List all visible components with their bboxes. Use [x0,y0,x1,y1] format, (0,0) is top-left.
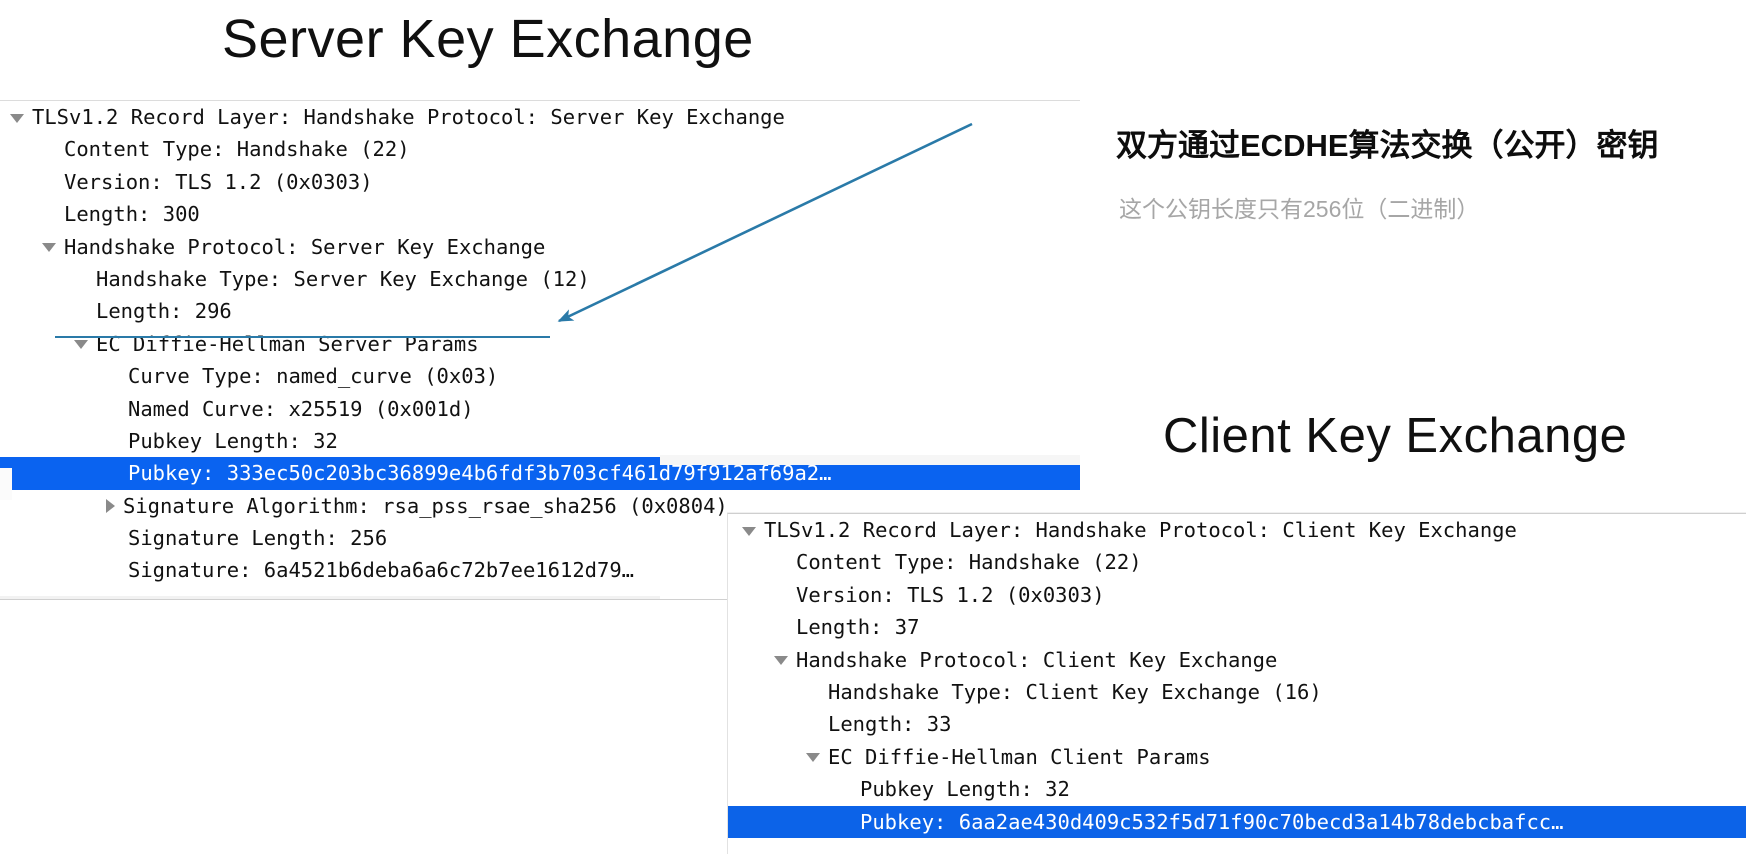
server-key-exchange-title: Server Key Exchange [222,8,754,70]
packet-tree-row[interactable]: Content Type: Handshake (22) [728,546,1746,578]
packet-tree-row-label: Length: 37 [796,611,919,643]
packet-tree-row[interactable]: TLSv1.2 Record Layer: Handshake Protocol… [0,101,1080,133]
panel-edge-artifact-left [0,468,12,500]
packet-tree-row[interactable]: Handshake Protocol: Client Key Exchange [728,644,1746,676]
chevron-right-icon[interactable] [106,499,115,513]
chevron-down-icon[interactable] [42,243,56,252]
chevron-down-icon[interactable] [774,656,788,665]
packet-tree-row-label: Pubkey Length: 32 [860,773,1070,805]
packet-tree-row[interactable]: Content Type: Handshake (22) [0,133,1080,165]
packet-tree-row[interactable]: TLSv1.2 Record Layer: Handshake Protocol… [728,514,1746,546]
packet-tree-row-label: Curve Type: named_curve (0x03) [128,360,498,392]
packet-tree-row[interactable]: Version: TLS 1.2 (0x0303) [0,166,1080,198]
client-key-exchange-packet-tree[interactable]: TLSv1.2 Record Layer: Handshake Protocol… [727,513,1746,854]
packet-tree-row[interactable]: Length: 37 [728,611,1746,643]
packet-tree-row-label: TLSv1.2 Record Layer: Handshake Protocol… [764,514,1517,546]
chevron-down-icon[interactable] [742,527,756,536]
client-key-exchange-title: Client Key Exchange [1163,408,1627,464]
packet-tree-row[interactable]: Length: 296 [0,295,1080,327]
packet-tree-row-label: Version: TLS 1.2 (0x0303) [796,579,1105,611]
packet-tree-row-label: Handshake Type: Server Key Exchange (12) [96,263,590,295]
packet-tree-row[interactable]: Handshake Type: Server Key Exchange (12) [0,263,1080,295]
chevron-down-icon[interactable] [74,340,88,349]
packet-tree-row-label: Version: TLS 1.2 (0x0303) [64,166,373,198]
packet-tree-row-label: Handshake Protocol: Client Key Exchange [796,644,1277,676]
packet-tree-row-label: Signature Algorithm: rsa_pss_rsae_sha256… [123,490,728,522]
packet-tree-row-selected[interactable]: Pubkey: 6aa2ae430d409c532f5d71f90c70becd… [728,806,1746,838]
packet-tree-row-label: Named Curve: x25519 (0x001d) [128,393,474,425]
packet-tree-row[interactable]: Named Curve: x25519 (0x001d) [0,393,1080,425]
annotation-heading: 双方通过ECDHE算法交换（公开）密钥 [1116,120,1659,165]
packet-tree-row-label: Content Type: Handshake (22) [64,133,410,165]
packet-tree-row-label: Handshake Type: Client Key Exchange (16) [828,676,1322,708]
chevron-down-icon[interactable] [10,114,24,123]
packet-tree-row-label: Signature Length: 256 [128,522,387,554]
packet-tree-row[interactable]: Pubkey Length: 32 [0,425,1080,457]
packet-tree-row[interactable]: Version: TLS 1.2 (0x0303) [728,579,1746,611]
annotation-subtitle: 这个公钥长度只有256位（二进制） [1119,190,1479,224]
packet-tree-row-label: EC Diffie-Hellman Server Params [96,328,479,360]
packet-tree-row[interactable]: EC Diffie-Hellman Client Params [728,741,1746,773]
packet-tree-row-label: Length: 296 [96,295,232,327]
server-params-underline [55,336,550,338]
packet-tree-row[interactable]: EC Diffie-Hellman Server Params [0,328,1080,360]
panel-edge-artifact-bottom [0,596,660,599]
packet-tree-row-label: Pubkey Length: 32 [128,425,338,457]
packet-tree-row[interactable]: Handshake Type: Client Key Exchange (16) [728,676,1746,708]
packet-tree-row-label: EC Diffie-Hellman Client Params [828,741,1211,773]
packet-tree-row-label: Handshake Protocol: Server Key Exchange [64,231,545,263]
packet-tree-row-label: TLSv1.2 Record Layer: Handshake Protocol… [32,101,785,133]
packet-tree-row-label: Pubkey: 6aa2ae430d409c532f5d71f90c70becd… [860,806,1564,838]
packet-tree-row-label: Signature: 6a4521b6deba6a6c72b7ee1612d79… [128,554,634,586]
packet-tree-row[interactable]: Pubkey Length: 32 [728,773,1746,805]
panel-edge-artifact-right [660,455,1080,465]
packet-tree-row[interactable]: Length: 300 [0,198,1080,230]
packet-tree-row[interactable]: Handshake Protocol: Server Key Exchange [0,231,1080,263]
packet-tree-row-label: Length: 33 [828,708,951,740]
packet-tree-row[interactable]: Curve Type: named_curve (0x03) [0,360,1080,392]
packet-tree-row-label: Length: 300 [64,198,200,230]
packet-tree-row-label: Content Type: Handshake (22) [796,546,1142,578]
chevron-down-icon[interactable] [806,753,820,762]
packet-tree-row[interactable]: Length: 33 [728,708,1746,740]
